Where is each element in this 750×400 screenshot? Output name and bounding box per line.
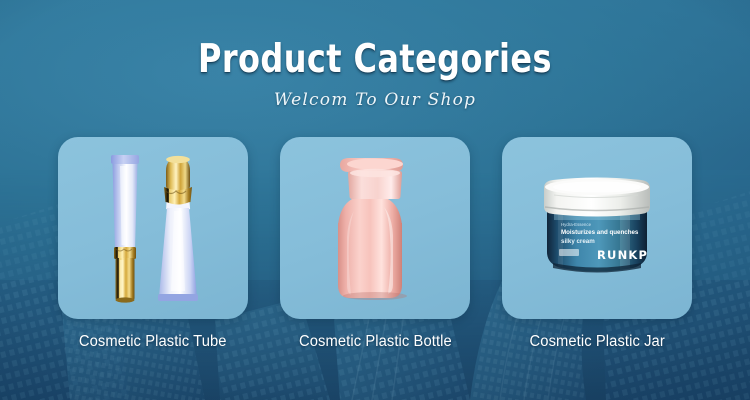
category-item-bottle[interactable]: Cosmetic Plastic Bottle (280, 137, 470, 351)
cosmetic-tube-pair-icon (58, 137, 248, 319)
category-label-jar: Cosmetic Plastic Jar (529, 333, 664, 351)
jar-print-line2: Moisturizes and quenches (561, 229, 639, 236)
cosmetic-bottle-icon (280, 137, 470, 319)
product-categories-banner: Product Categories Welcom To Our Shop (0, 0, 750, 400)
category-item-tube[interactable]: Cosmetic Plastic Tube (58, 137, 248, 351)
banner-header: Product Categories Welcom To Our Shop (0, 38, 750, 110)
tube-right (158, 156, 198, 301)
category-card-jar[interactable]: Hydra-Essence Moisturizes and quenches s… (502, 137, 692, 319)
cosmetic-jar-icon: Hydra-Essence Moisturizes and quenches s… (502, 137, 692, 319)
category-item-jar[interactable]: Hydra-Essence Moisturizes and quenches s… (502, 137, 692, 351)
category-card-bottle[interactable] (280, 137, 470, 319)
category-card-tube[interactable] (58, 137, 248, 319)
jar-print-line1: Hydra-Essence (561, 222, 592, 227)
jar-brand-text: RUNKPACK (597, 248, 677, 262)
category-card-list: Cosmetic Plastic Tube (0, 137, 750, 351)
page-title: Product Categories (68, 38, 683, 82)
category-label-bottle: Cosmetic Plastic Bottle (299, 333, 452, 351)
jar-print-line3: silky cream (561, 238, 595, 245)
page-subtitle: Welcom To Our Shop (0, 90, 750, 110)
tube-left (111, 155, 139, 303)
category-label-tube: Cosmetic Plastic Tube (79, 333, 227, 351)
